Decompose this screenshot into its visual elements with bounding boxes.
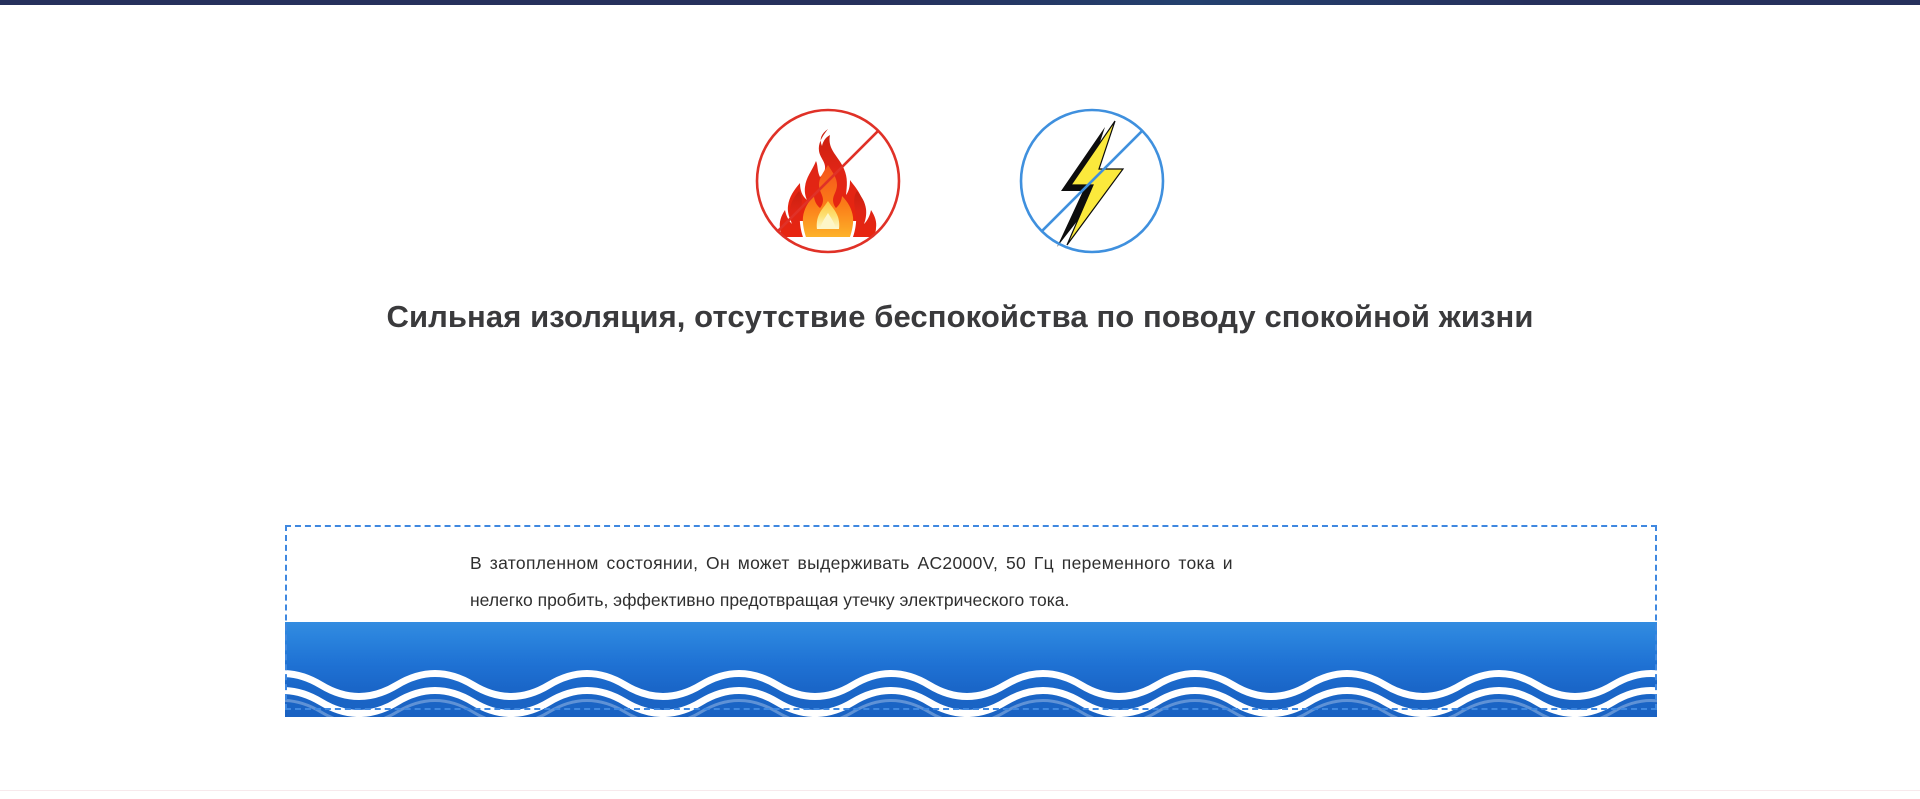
water-illustration bbox=[285, 622, 1657, 717]
page-title: Сильная изоляция, отсутствие беспокойств… bbox=[0, 298, 1920, 337]
note-text-line-2: нелегко пробить, эффективно предотвращая… bbox=[470, 582, 1470, 619]
feature-icon-row bbox=[0, 105, 1920, 257]
note-text-line-1: В затопленном состоянии, Он может выдерж… bbox=[470, 545, 1470, 582]
lightning-bolt-shape bbox=[1067, 121, 1123, 245]
note-text: В затопленном состоянии, Он может выдерж… bbox=[470, 545, 1470, 619]
wave-line-upper bbox=[285, 674, 1657, 697]
no-fire-icon bbox=[752, 105, 904, 257]
bottom-accent-rule bbox=[0, 790, 1920, 791]
no-electric-shock-icon bbox=[1016, 105, 1168, 257]
feature-banner-page: Сильная изоляция, отсутствие беспокойств… bbox=[0, 0, 1920, 799]
top-accent-rule bbox=[0, 0, 1920, 5]
